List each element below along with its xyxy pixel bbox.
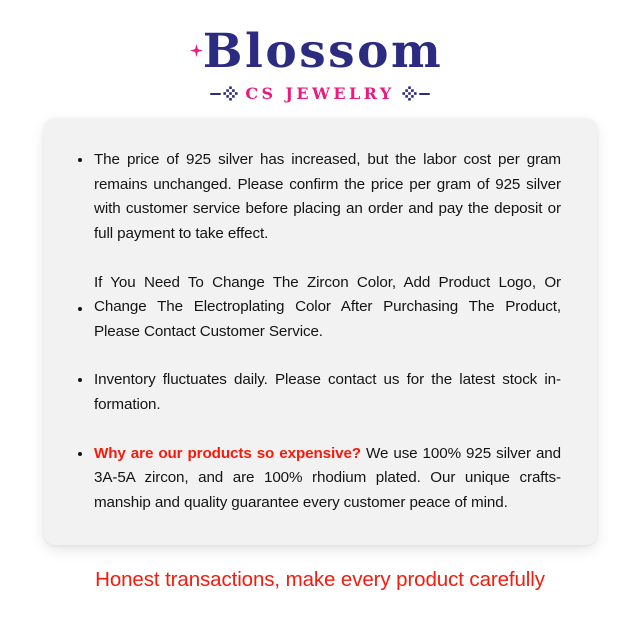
footer-slogan: Honest transactions, make every product …: [0, 568, 640, 592]
notice-highlight-text: Why are our products so expensive?: [94, 445, 361, 462]
bullet-icon: [78, 378, 82, 382]
brand-header: Blossom CS JEWELRY: [0, 28, 640, 103]
brand-tagline-row: CS JEWELRY: [0, 84, 640, 103]
notice-list: The price of 925 silver has increased, b…: [74, 148, 561, 516]
bullet-icon: [78, 452, 82, 456]
ornament-dash-left: [210, 93, 221, 95]
notice-text: The price of 925 silver has increased, b…: [94, 151, 561, 242]
bullet-icon: [78, 307, 82, 311]
list-item: Inventory fluctuates daily. Please conta…: [74, 368, 561, 417]
list-item: The price of 925 silver has increased, b…: [74, 148, 561, 247]
brand-name: Blossom: [197, 28, 443, 75]
ornament-dash-right: [419, 93, 430, 95]
list-item: If You Need To Change The Zircon Color, …: [74, 271, 561, 345]
brand-logo: Blossom: [197, 28, 443, 75]
sparkle-diamond-icon: [190, 44, 203, 57]
notice-text: Inventory fluctuates daily. Please conta…: [94, 371, 561, 413]
notice-card: The price of 925 silver has increased, b…: [44, 118, 597, 545]
snowflake-ornament-icon-right: [402, 86, 430, 101]
brand-tagline: CS JEWELRY: [245, 84, 394, 103]
snowflake-ornament-icon-left: [210, 86, 238, 101]
notice-text: If You Need To Change The Zircon Color, …: [94, 274, 561, 340]
bullet-icon: [78, 158, 82, 162]
list-item: Why are our products so expensive? We us…: [74, 442, 561, 516]
